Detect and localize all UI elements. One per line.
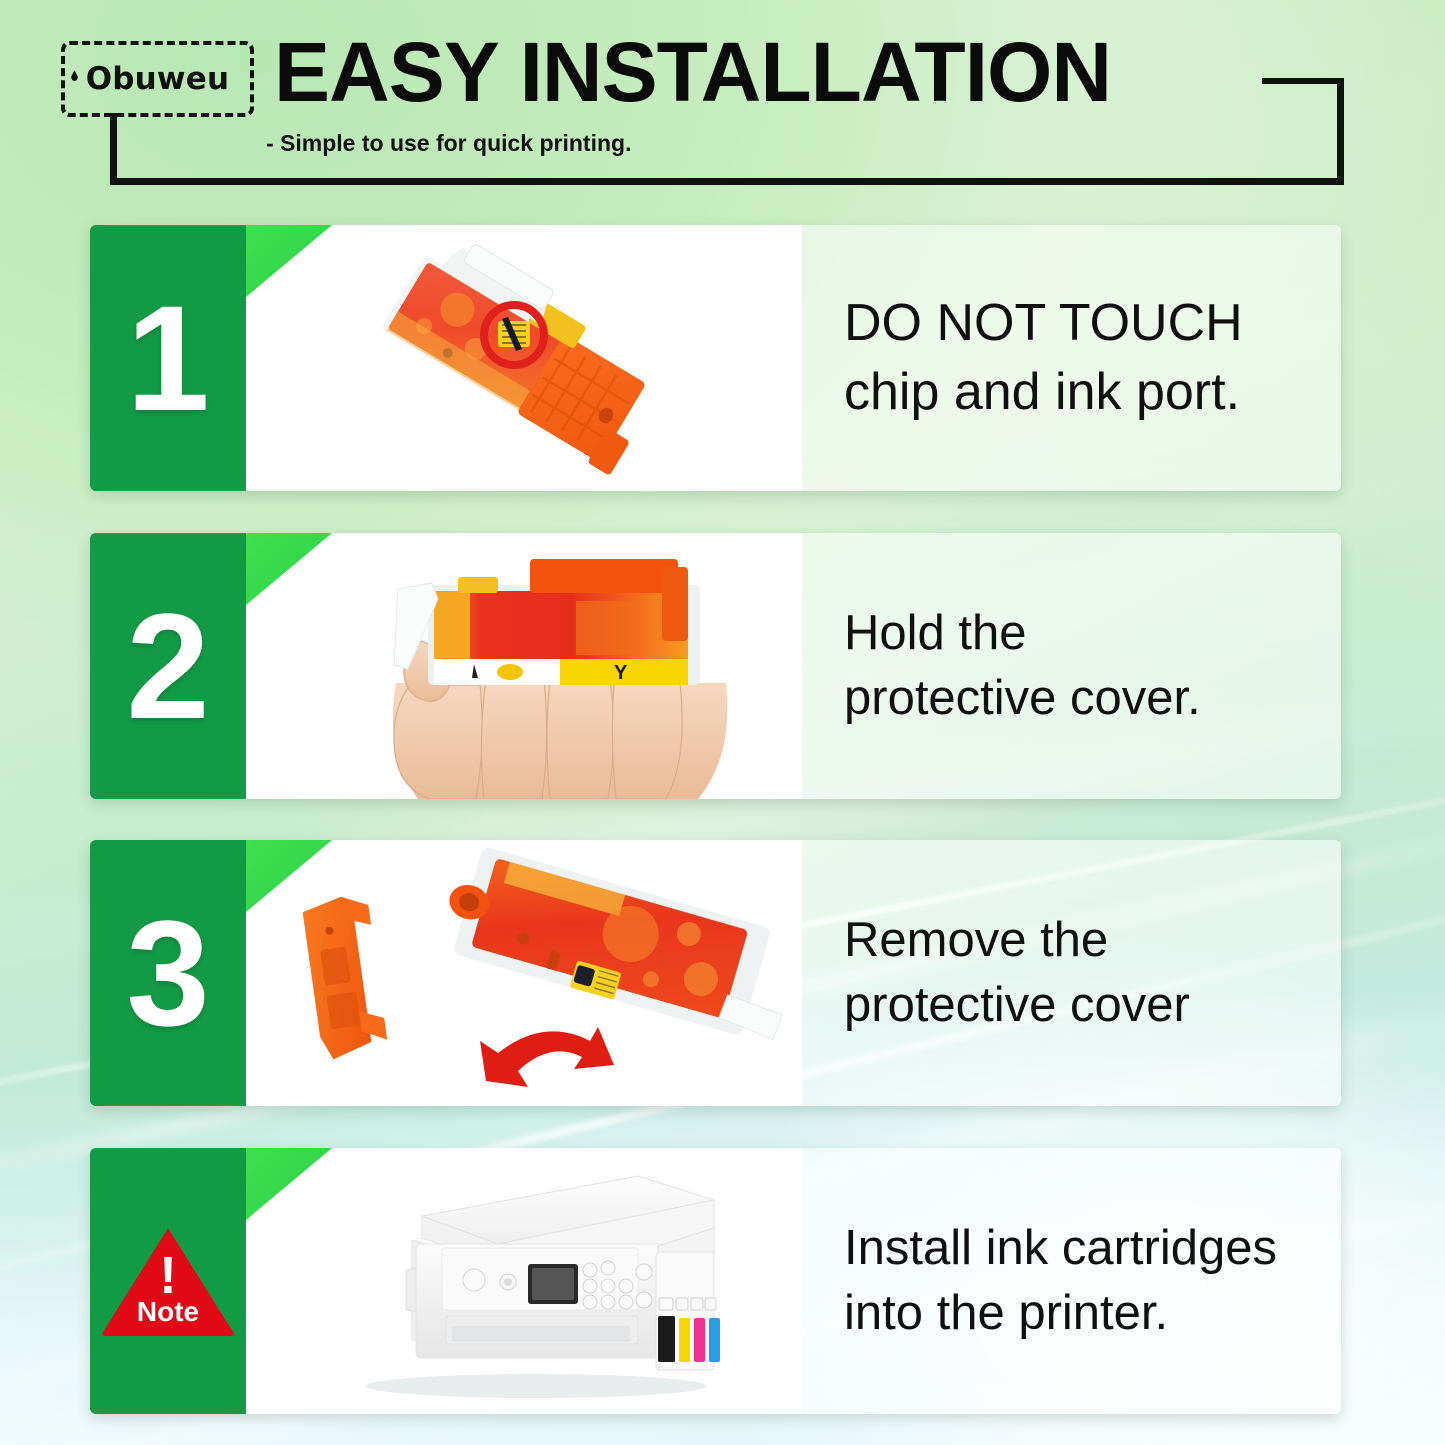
note-label: Note (137, 1296, 199, 1328)
ink-tank-magenta (694, 1318, 705, 1362)
step-text-panel-4: Install ink cartridges into the printer. (802, 1148, 1341, 1414)
step-caption-2: Hold the protective cover. (844, 601, 1201, 730)
step-image-1 (246, 225, 802, 491)
ink-drop-icon (71, 70, 78, 81)
step-text-panel-3: Remove the protective cover (802, 840, 1341, 1106)
step-badge-3: 3 (90, 840, 246, 1106)
step-text-panel-1: DO NOT TOUCH chip and ink port. (802, 225, 1341, 491)
step-caption-line1: Hold the (844, 601, 1201, 666)
step-caption-1: DO NOT TOUCH chip and ink port. (844, 289, 1243, 426)
step-caption-3: Remove the protective cover (844, 908, 1190, 1037)
printer-illustration (246, 1148, 802, 1414)
step-image-4 (246, 1148, 802, 1414)
svg-text:Y: Y (614, 662, 628, 684)
step-image-3 (246, 840, 802, 1106)
step-image-2: Y (246, 533, 802, 799)
step-caption-line2: chip and ink port. (844, 358, 1243, 427)
cartridge-no-touch-illustration (246, 225, 802, 491)
step-card-4: ! Note (90, 1148, 1341, 1414)
page-title: EASY INSTALLATION (274, 30, 1111, 114)
decor-frame-left-rule (110, 113, 117, 185)
ink-tank-yellow (679, 1318, 690, 1362)
step-badge-note: ! Note (90, 1148, 246, 1414)
decor-frame-bottom-rule (110, 178, 1344, 185)
ink-tank-black (658, 1316, 675, 1362)
decor-frame-right-rule (1337, 78, 1344, 185)
step-number: 3 (126, 898, 209, 1048)
brand-logo-text: Obuweu (86, 64, 230, 95)
step-number: 2 (126, 591, 209, 741)
remove-cover-illustration (246, 840, 802, 1106)
step-card-1: 1 (90, 225, 1341, 491)
brand-logo: Obuweu (61, 41, 254, 117)
step-number: 1 (126, 283, 209, 433)
step-card-2: 2 (90, 533, 1341, 799)
step-badge-1: 1 (90, 225, 246, 491)
step-caption-line2: protective cover (844, 973, 1190, 1038)
red-arrow-icon (480, 1027, 614, 1087)
header: Obuweu EASY INSTALLATION - Simple to use… (0, 0, 1445, 205)
note-warning-icon: ! Note (101, 1226, 236, 1336)
hand-holding-cartridge-illustration: Y (246, 533, 802, 799)
infographic-page: Obuweu EASY INSTALLATION - Simple to use… (0, 0, 1445, 1445)
step-card-3: 3 (90, 840, 1341, 1106)
ink-tank-cyan (709, 1318, 720, 1362)
step-badge-2: 2 (90, 533, 246, 799)
page-subtitle: - Simple to use for quick printing. (266, 130, 631, 157)
step-caption-line1: Remove the (844, 908, 1190, 973)
step-caption-line2: into the printer. (844, 1281, 1277, 1346)
exclamation-icon: ! (159, 1250, 176, 1302)
step-caption-line1: DO NOT TOUCH (844, 289, 1243, 358)
decor-frame-top-stub (1262, 78, 1344, 84)
step-text-panel-2: Hold the protective cover. (802, 533, 1341, 799)
step-caption-4: Install ink cartridges into the printer. (844, 1216, 1277, 1345)
step-caption-line2: protective cover. (844, 666, 1201, 731)
step-caption-line1: Install ink cartridges (844, 1216, 1277, 1281)
